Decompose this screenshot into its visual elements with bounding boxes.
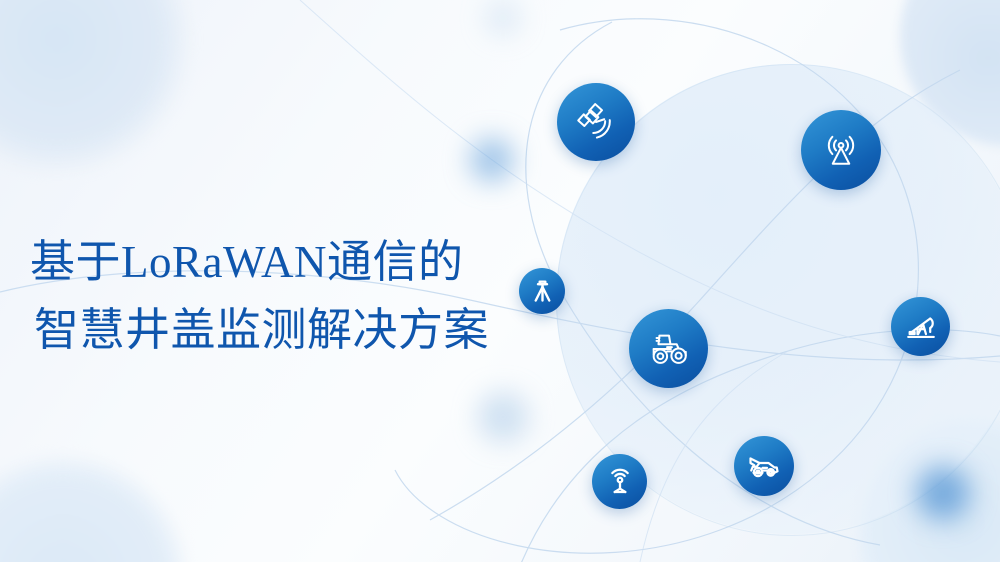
node-tractor[interactable] xyxy=(629,309,708,388)
wireless-sensor-icon xyxy=(604,466,636,498)
node-oil-pumpjack[interactable] xyxy=(891,297,950,356)
harvester-icon xyxy=(746,448,782,484)
node-wireless-sensor[interactable] xyxy=(592,454,647,509)
page-title: 基于LoRaWAN通信的 智慧井盖监测解决方案 xyxy=(30,228,550,365)
node-harvester[interactable] xyxy=(734,436,794,496)
title-line-1: 基于LoRaWAN通信的 xyxy=(30,228,550,296)
title-line-2: 智慧井盖监测解决方案 xyxy=(30,296,550,364)
node-satellite[interactable] xyxy=(557,83,635,161)
accent-dot-mid xyxy=(478,392,528,442)
oil-pumpjack-icon xyxy=(904,310,938,344)
title-slide: 基于LoRaWAN通信的 智慧井盖监测解决方案 xyxy=(0,0,1000,562)
broadcast-tower-icon xyxy=(819,128,863,172)
node-broadcast-tower[interactable] xyxy=(801,110,881,190)
accent-dot-upper xyxy=(470,138,514,182)
node-survey-tripod[interactable] xyxy=(519,268,565,314)
accent-dot-lower-right xyxy=(916,466,970,520)
satellite-icon xyxy=(574,100,618,144)
tractor-icon xyxy=(646,326,692,372)
accent-dot-top xyxy=(486,1,520,35)
survey-tripod-icon xyxy=(529,278,556,305)
